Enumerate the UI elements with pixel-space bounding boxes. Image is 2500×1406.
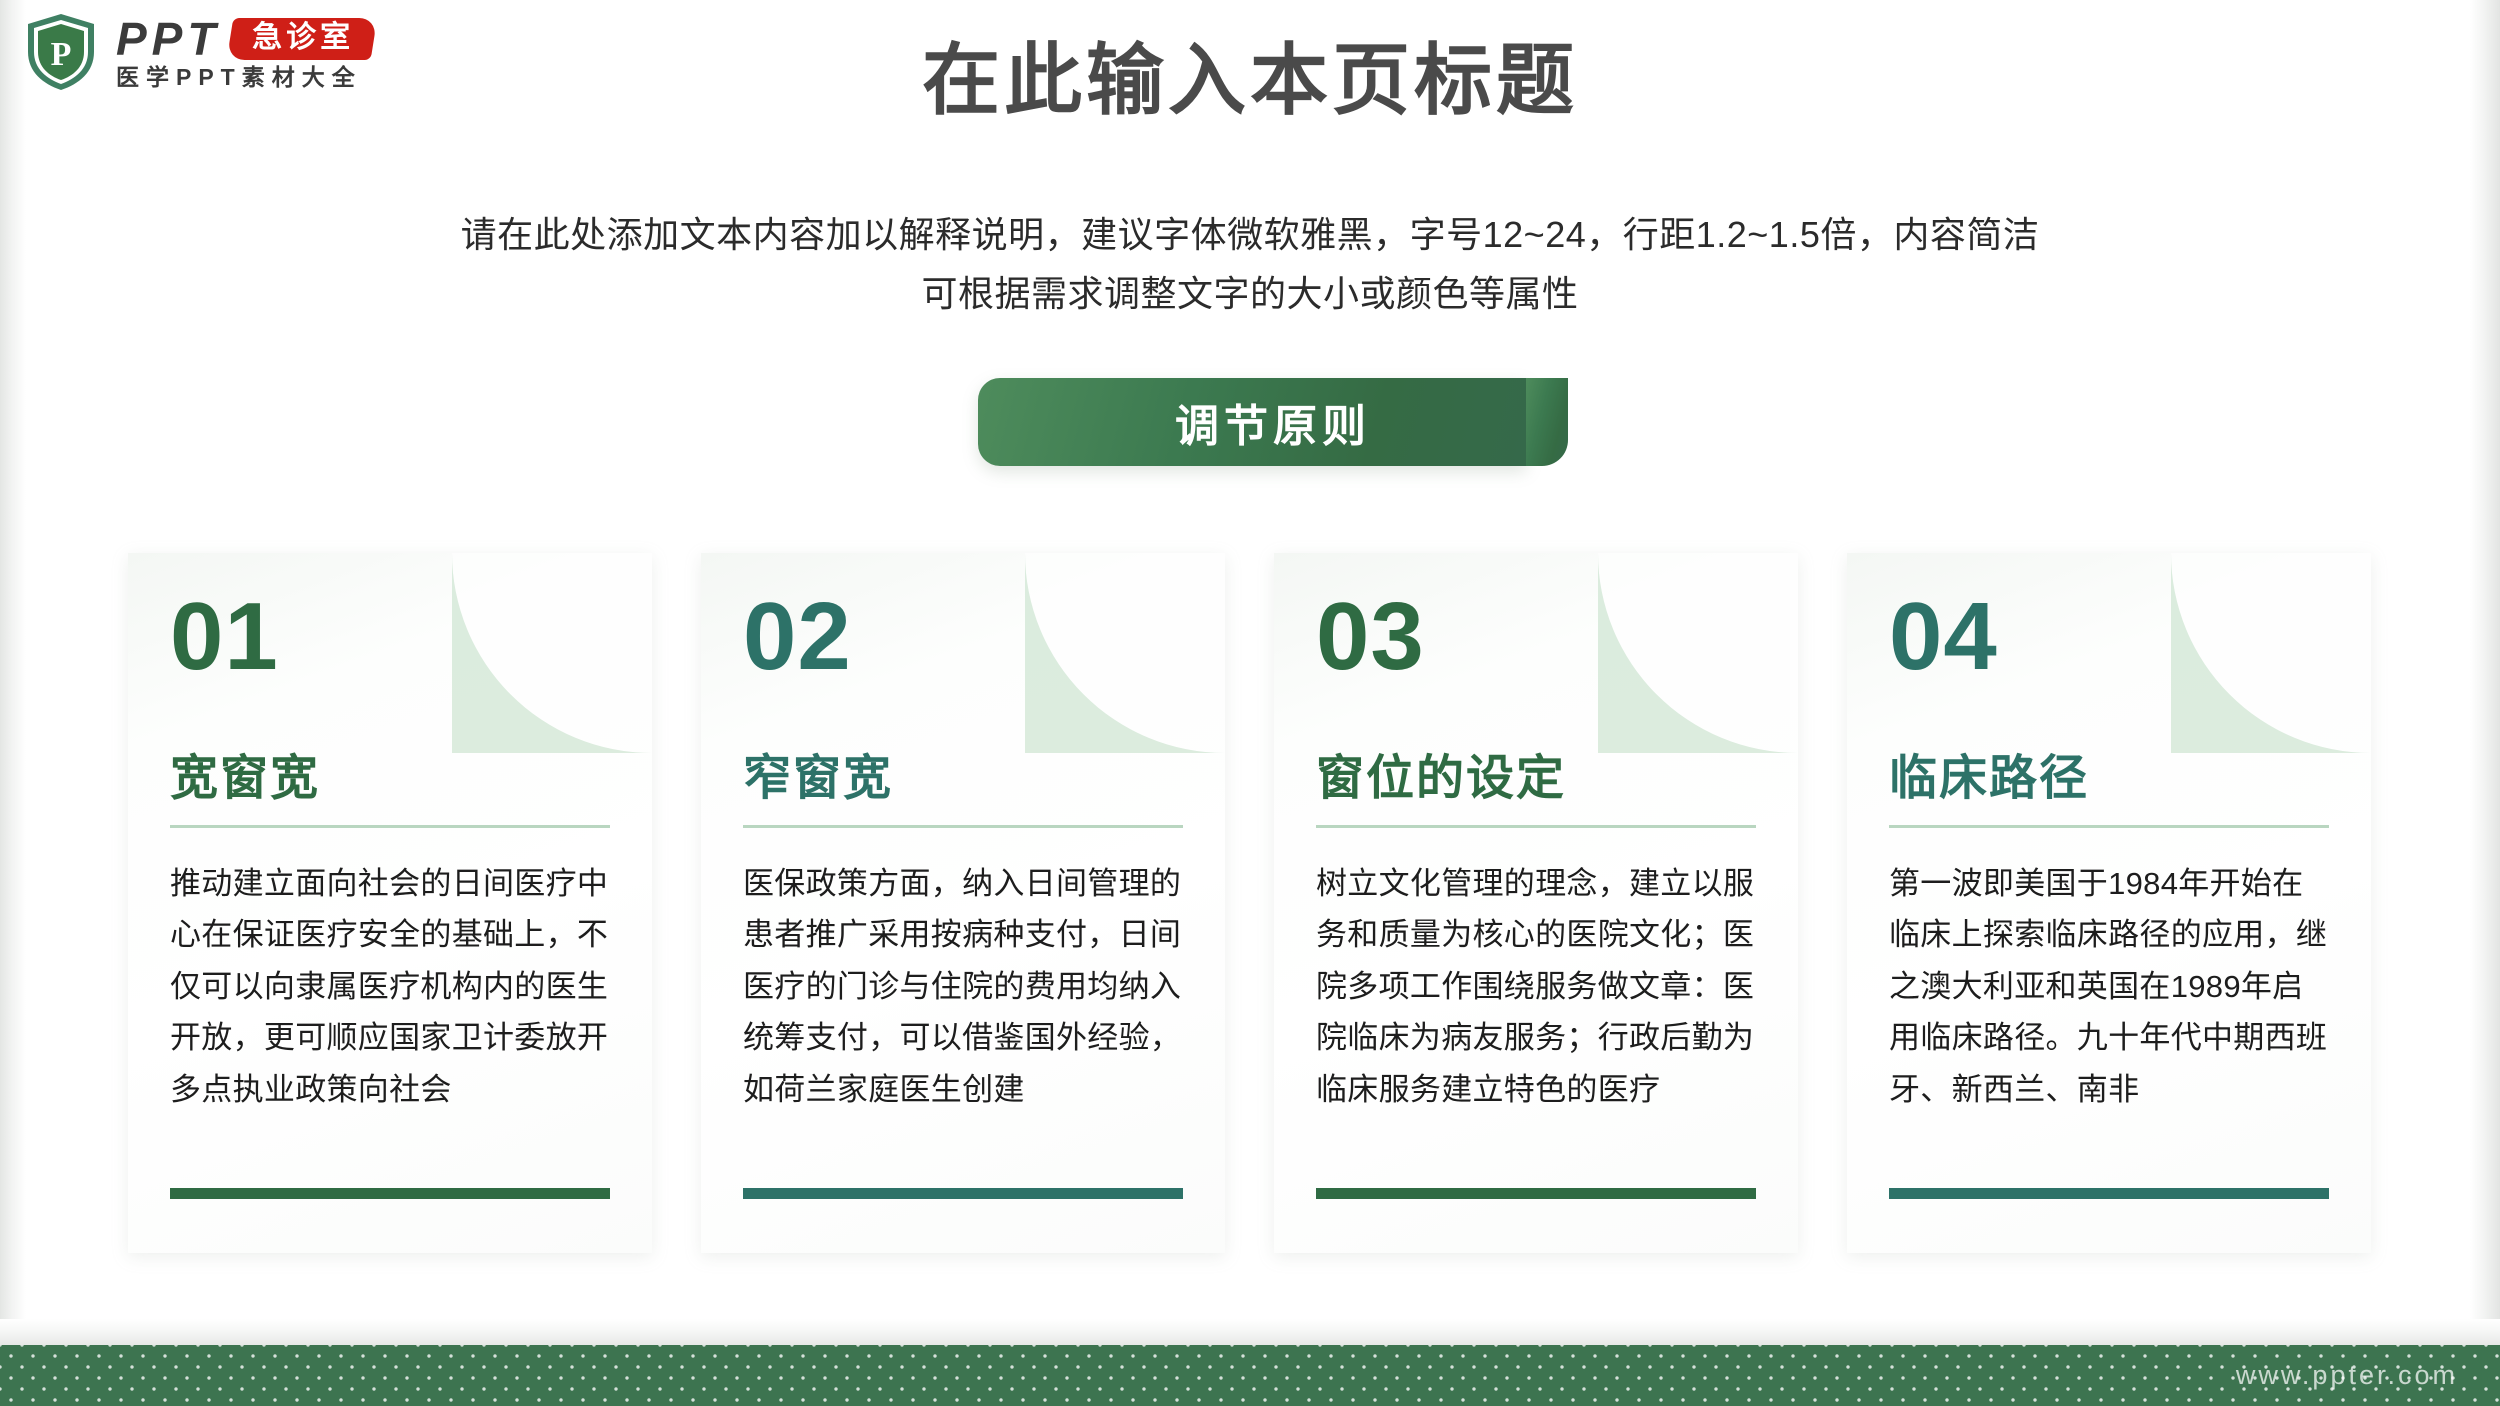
slide-canvas: P PPT 急诊室 医学PPT素材大全 在此输入本页标题 请在此处添加文本内容加…	[0, 0, 2500, 1406]
card-bottom-bar	[1889, 1188, 2329, 1199]
card-item[interactable]: 01 宽窗宽 推动建立面向社会的日间医疗中心在保证医疗安全的基础上，不仅可以向隶…	[128, 553, 652, 1253]
card-bottom-bar	[1316, 1188, 1756, 1199]
card-number: 01	[170, 589, 610, 685]
section-banner-label: 调节原则	[978, 378, 1568, 466]
card-body: 医保政策方面，纳入日间管理的患者推广采用按病种支付，日间医疗的门诊与住院的费用均…	[743, 858, 1183, 1115]
card-bottom-bar	[743, 1188, 1183, 1199]
left-edge-shade	[0, 0, 26, 1345]
card-number: 02	[743, 589, 1183, 685]
subtitle-line-2: 可根据需求调整文字的大小或颜色等属性	[0, 264, 2500, 323]
card-body: 第一波即美国于1984年开始在临床上探索临床路径的应用，继之澳大利亚和英国在19…	[1889, 858, 2329, 1115]
card-divider	[743, 825, 1183, 828]
card-list: 01 宽窗宽 推动建立面向社会的日间医疗中心在保证医疗安全的基础上，不仅可以向隶…	[128, 553, 2372, 1253]
right-edge-shade	[2470, 0, 2500, 1345]
section-banner: 调节原则	[978, 378, 1526, 466]
page-title: 在此输入本页标题	[0, 38, 2500, 124]
page-subtitle: 请在此处添加文本内容加以解释说明，建议字体微软雅黑，字号12~24，行距1.2~…	[0, 205, 2500, 324]
card-heading: 宽窗宽	[170, 755, 610, 803]
card-heading: 临床路径	[1889, 755, 2329, 803]
footer-url[interactable]: www.ppter.com	[2236, 1345, 2458, 1406]
card-body: 树立文化管理的理念，建立以服务和质量为核心的医院文化；医院多项工作围绕服务做文章…	[1316, 858, 1756, 1115]
card-divider	[1889, 825, 2329, 828]
card-divider	[1316, 825, 1756, 828]
card-heading: 窗位的设定	[1316, 755, 1756, 803]
card-number: 03	[1316, 589, 1756, 685]
card-number: 04	[1889, 589, 2329, 685]
bottom-edge-shade	[0, 1319, 2500, 1345]
card-item[interactable]: 03 窗位的设定 树立文化管理的理念，建立以服务和质量为核心的医院文化；医院多项…	[1274, 553, 1798, 1253]
card-heading: 窄窗宽	[743, 755, 1183, 803]
subtitle-line-1: 请在此处添加文本内容加以解释说明，建议字体微软雅黑，字号12~24，行距1.2~…	[0, 205, 2500, 264]
card-bottom-bar	[170, 1188, 610, 1199]
card-divider	[170, 825, 610, 828]
card-body: 推动建立面向社会的日间医疗中心在保证医疗安全的基础上，不仅可以向隶属医疗机构内的…	[170, 858, 610, 1115]
footer-bar: www.ppter.com	[0, 1345, 2500, 1406]
card-item[interactable]: 02 窄窗宽 医保政策方面，纳入日间管理的患者推广采用按病种支付，日间医疗的门诊…	[701, 553, 1225, 1253]
card-item[interactable]: 04 临床路径 第一波即美国于1984年开始在临床上探索临床路径的应用，继之澳大…	[1847, 553, 2371, 1253]
